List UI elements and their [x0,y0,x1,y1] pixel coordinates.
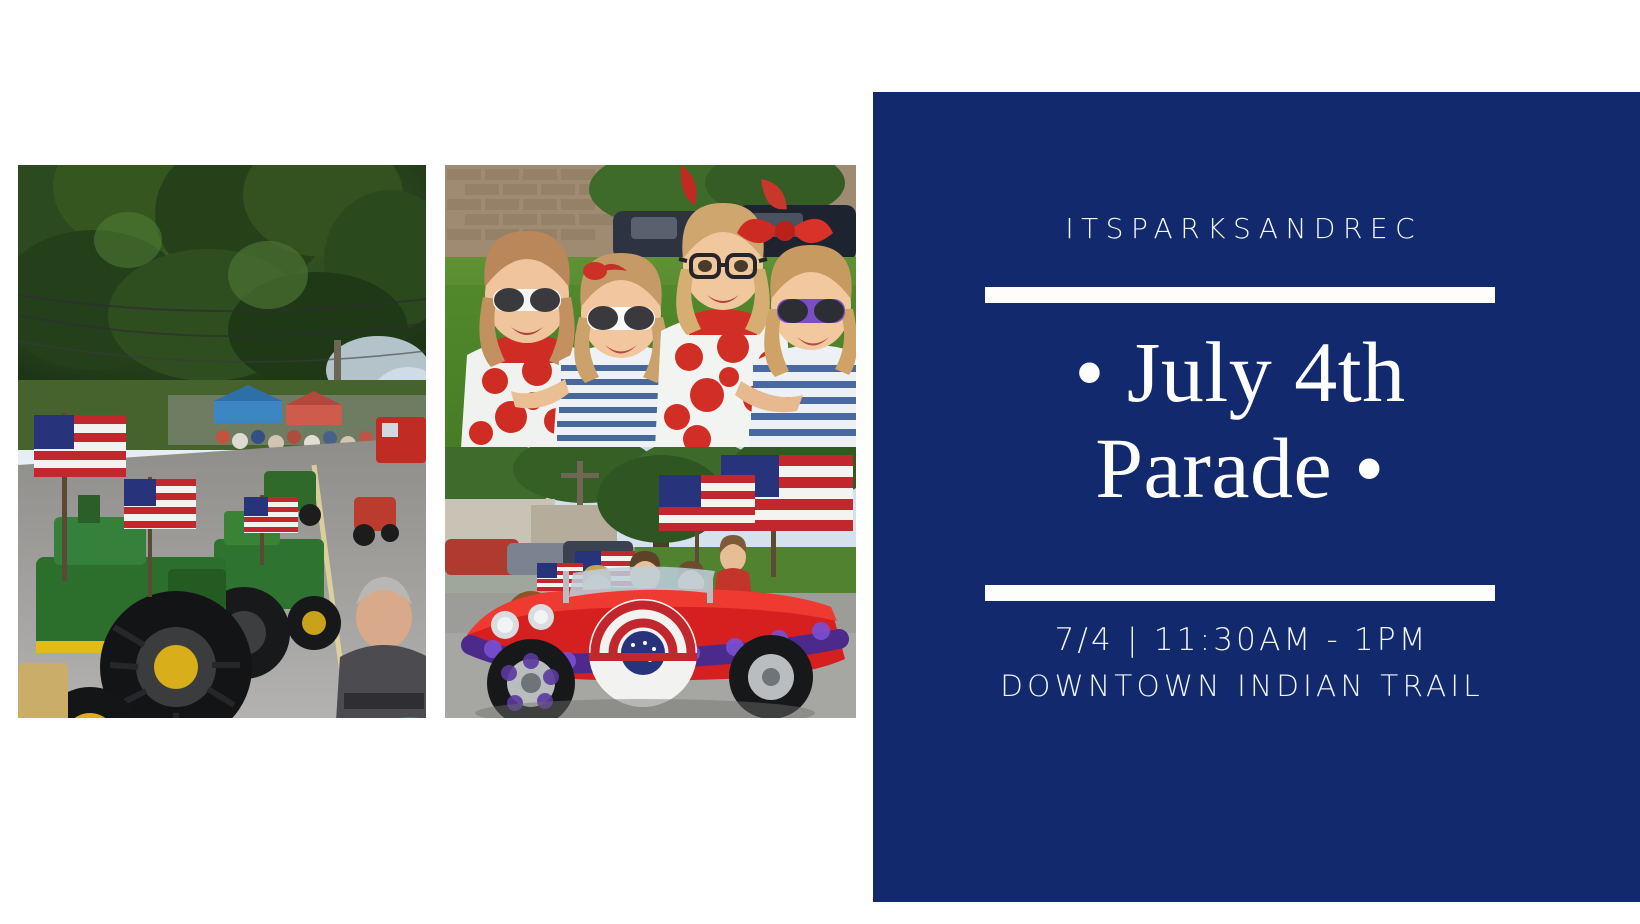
photo-parade-dune-buggy [445,447,856,718]
event-info-panel: ITSPARKSANDREC • July 4th Parade • 7/4 |… [873,92,1640,902]
event-details: 7/4 | 11:30AM - 1PM DOWNTOWN INDIAN TRAI… [959,617,1521,709]
brand-name: ITSPARKSANDREC [985,215,1495,243]
photo-tractor-parade [18,165,426,718]
divider-top [985,287,1495,303]
panel-content: ITSPARKSANDREC • July 4th Parade • 7/4 |… [985,92,1495,902]
event-location: DOWNTOWN INDIAN TRAIL [959,664,1521,709]
july-4th-parade-poster: ITSPARKSANDREC • July 4th Parade • 7/4 |… [0,0,1640,924]
divider-bottom [985,585,1495,601]
page-title: • July 4th Parade • [951,324,1529,517]
page-title-line-1: • July 4th [951,324,1529,420]
photo-patriotic-girls [445,165,856,448]
page-title-line-2: Parade • [951,420,1529,516]
event-datetime: 7/4 | 11:30AM - 1PM [959,617,1521,664]
